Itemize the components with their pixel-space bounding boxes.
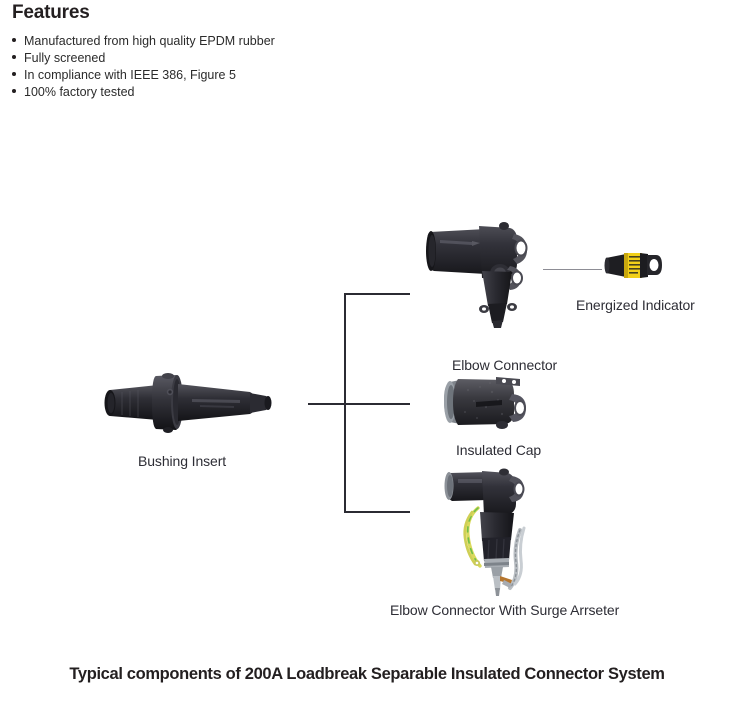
bullet-icon xyxy=(12,38,16,42)
page-root: Features Manufactured from high quality … xyxy=(0,0,734,707)
features-list: Manufactured from high quality EPDM rubb… xyxy=(12,33,432,101)
energized-indicator-image xyxy=(604,247,662,288)
label-bushing-insert: Bushing Insert xyxy=(138,453,226,469)
bracket-branch-top xyxy=(344,293,410,295)
list-item-label: Fully screened xyxy=(24,51,105,65)
features-heading: Features xyxy=(12,2,90,24)
list-item-label: In compliance with IEEE 386, Figure 5 xyxy=(24,68,236,82)
list-item: Fully screened xyxy=(12,50,432,67)
bullet-icon xyxy=(12,72,16,76)
label-energized-indicator: Energized Indicator xyxy=(576,297,695,313)
bushing-insert-image xyxy=(100,368,282,443)
list-item: In compliance with IEEE 386, Figure 5 xyxy=(12,67,432,84)
elbow-with-surge-arrester-image xyxy=(432,468,562,603)
bullet-icon xyxy=(12,55,16,59)
bracket-branch-bottom xyxy=(344,511,410,513)
leader-line-energized-indicator xyxy=(543,269,602,270)
bracket-branch-middle xyxy=(308,403,410,405)
list-item: 100% factory tested xyxy=(12,84,432,101)
list-item: Manufactured from high quality EPDM rubb… xyxy=(12,33,432,50)
bullet-icon xyxy=(12,89,16,93)
label-insulated-cap: Insulated Cap xyxy=(456,442,541,458)
figure-caption: Typical components of 200A Loadbreak Sep… xyxy=(0,665,734,684)
list-item-label: Manufactured from high quality EPDM rubb… xyxy=(24,34,275,48)
label-elbow-connector: Elbow Connector xyxy=(452,357,557,373)
label-elbow-with-surge-arrester: Elbow Connector With Surge Arrseter xyxy=(390,602,619,618)
insulated-cap-image xyxy=(440,374,558,441)
elbow-connector-image xyxy=(424,216,546,333)
list-item-label: 100% factory tested xyxy=(24,85,134,99)
